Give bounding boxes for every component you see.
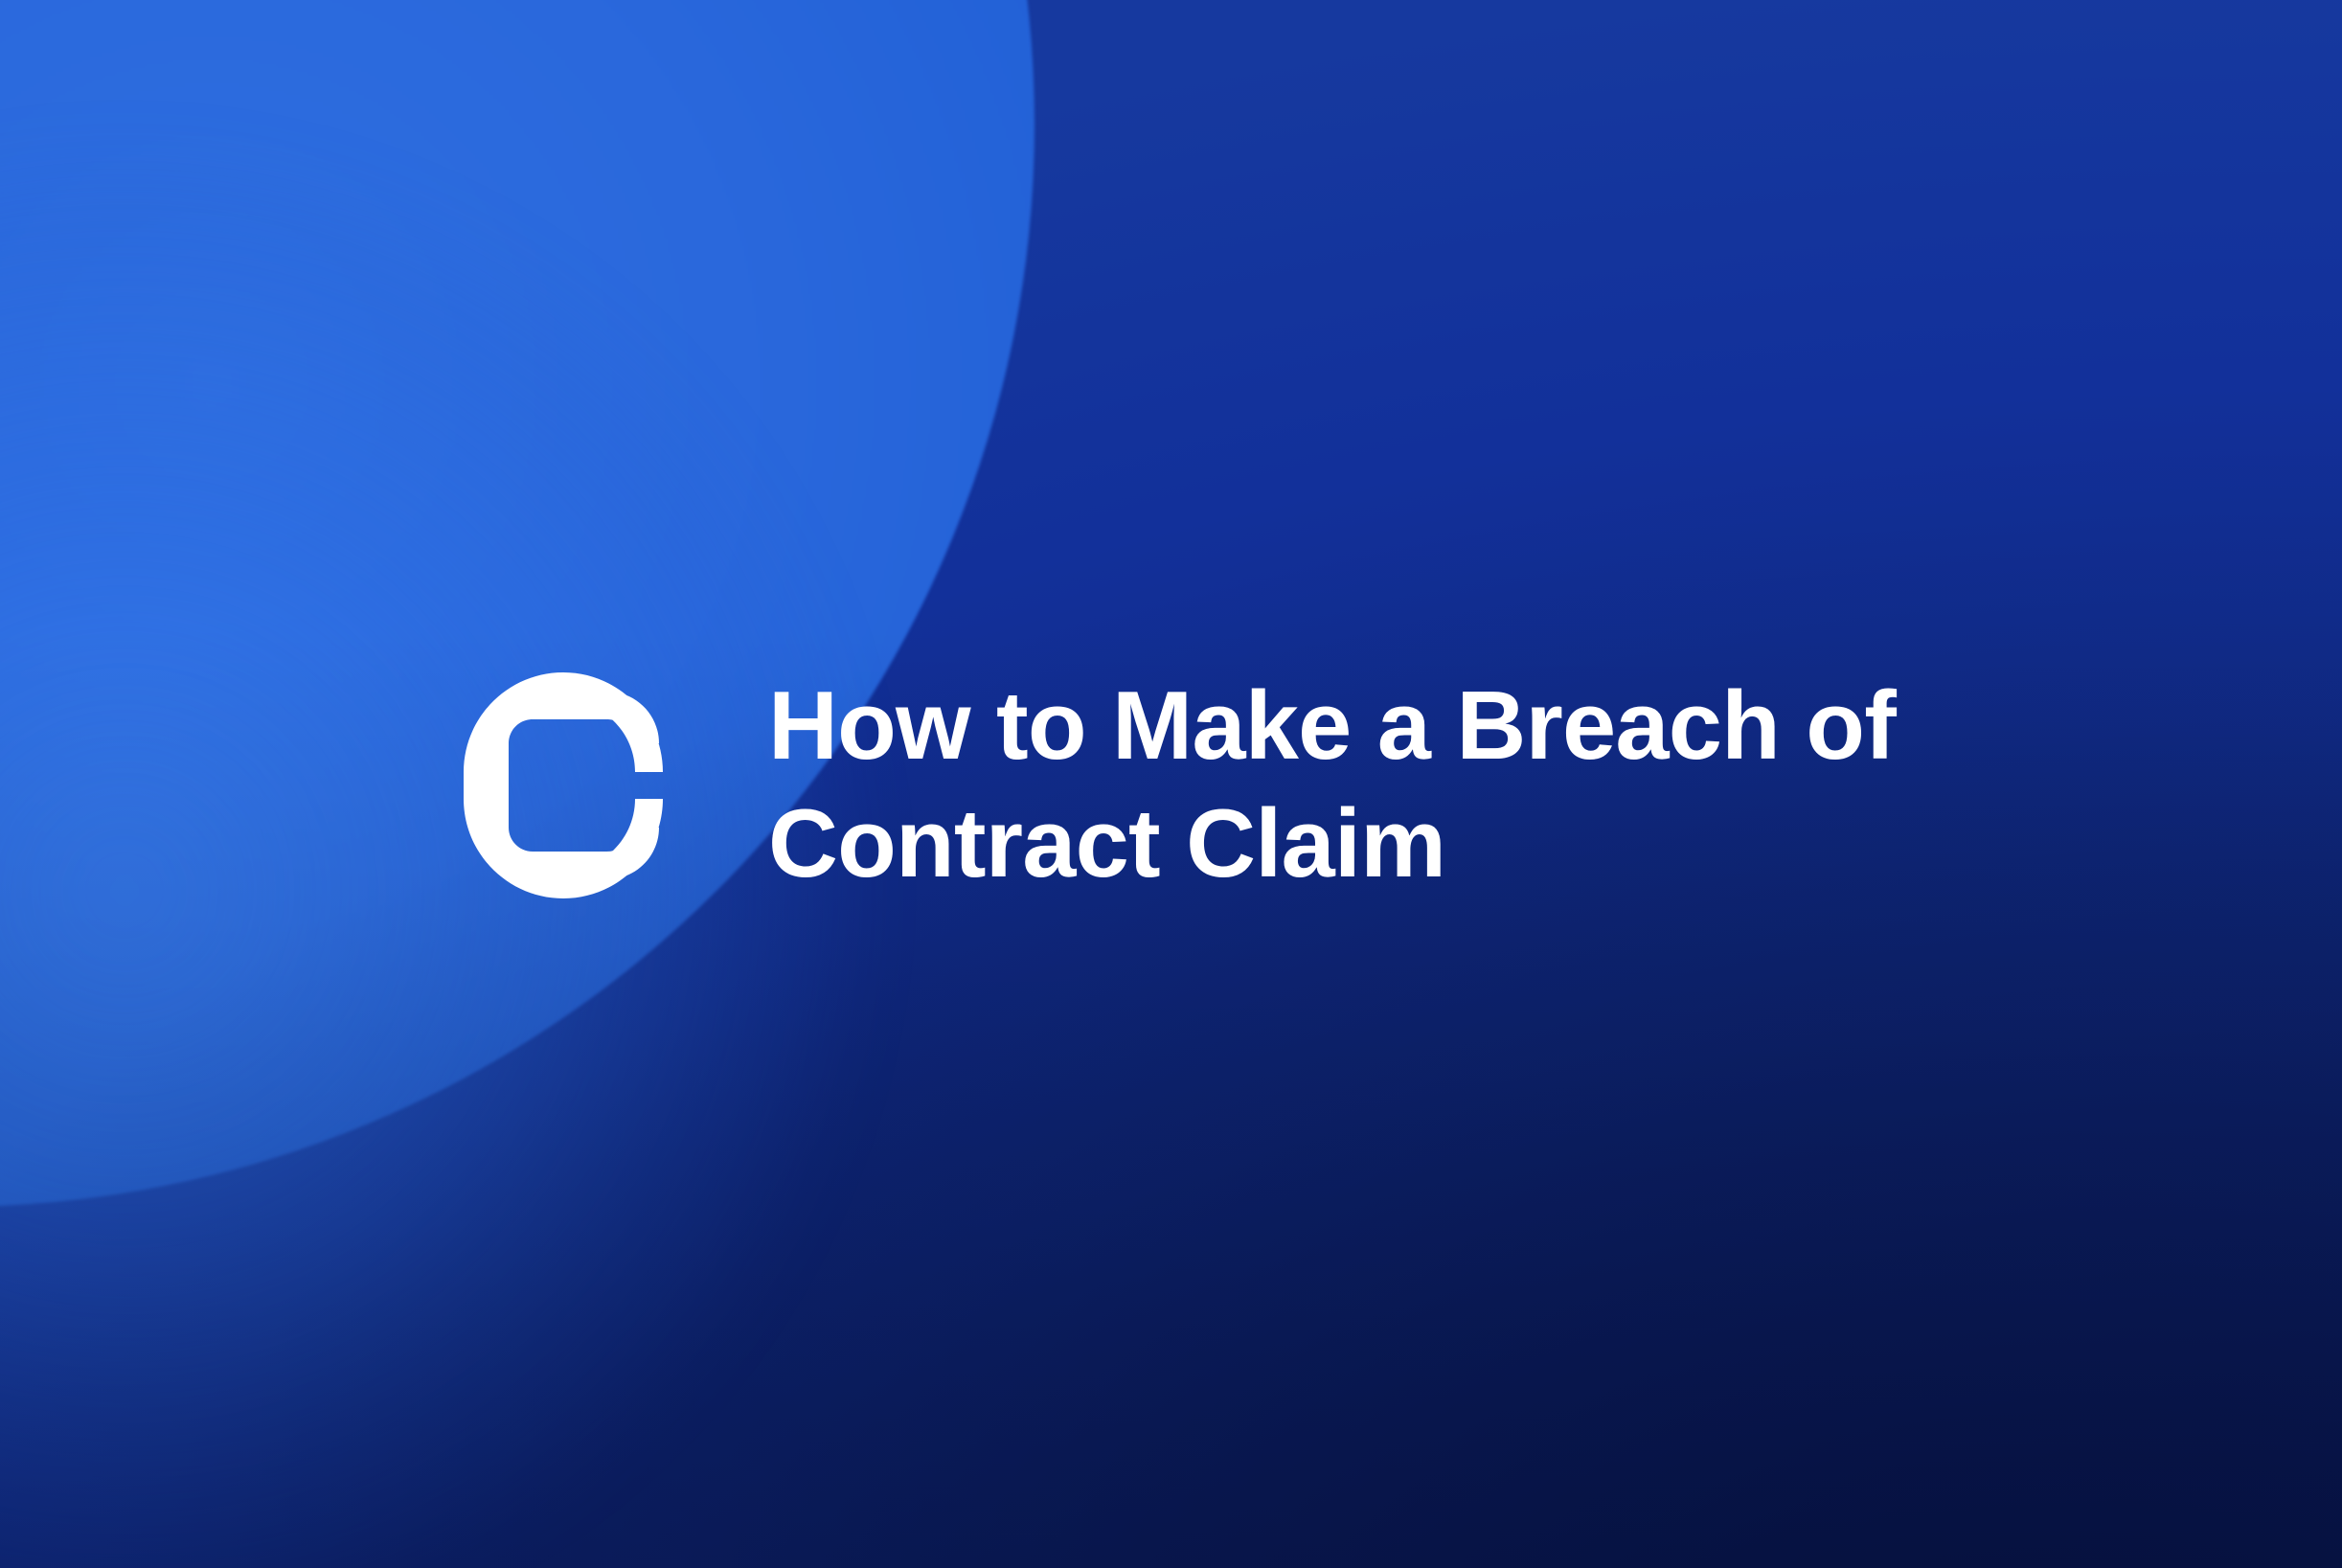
hero-card: How to Make a Breach of Contract Claim (0, 0, 2342, 1568)
page-title: How to Make a Breach of Contract Claim (768, 668, 1918, 903)
interlocking-double-c-monogram-logo-icon (462, 670, 665, 900)
hero-content: How to Make a Breach of Contract Claim (462, 668, 1918, 903)
